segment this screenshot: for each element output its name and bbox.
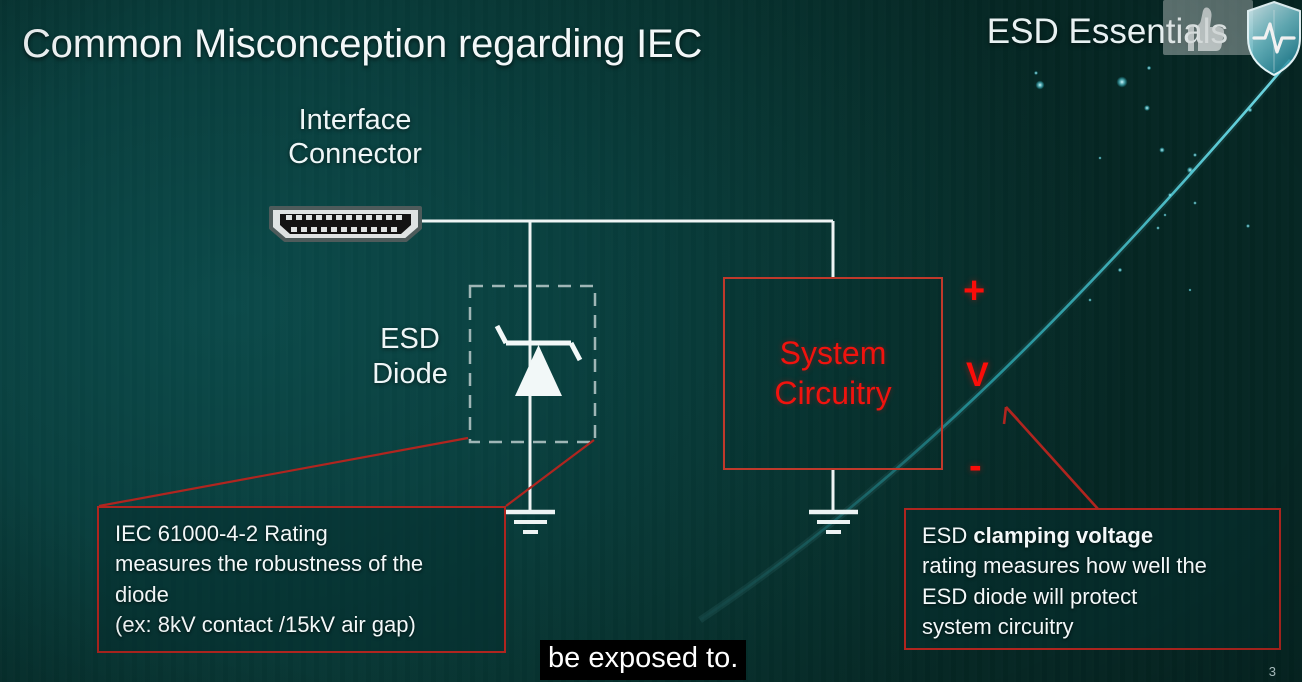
page-title: Common Misconception regarding IEC — [22, 22, 702, 67]
system-circuitry-line1: System — [780, 334, 887, 373]
voltage-minus-marker: - — [969, 447, 982, 485]
page-number: 3 — [1269, 664, 1276, 679]
esd-diode-label: ESD Diode — [340, 322, 480, 393]
esd-label-line2: Diode — [340, 357, 480, 392]
voltage-plus-marker: + — [963, 272, 985, 310]
callout-right-line4: system circuitry — [922, 612, 1265, 642]
thumbs-up-icon[interactable] — [1178, 3, 1230, 55]
hdmi-connector-icon — [268, 204, 423, 244]
callout-right-line1: ESD clamping voltage — [922, 521, 1265, 551]
callout-iec-rating: IEC 61000-4-2 Rating measures the robust… — [97, 506, 506, 653]
callout-clamping-voltage: ESD clamping voltage rating measures how… — [904, 508, 1281, 650]
slide-canvas: Common Misconception regarding IEC ESD E… — [0, 0, 1302, 682]
connector-label: Interface Connector — [255, 104, 455, 171]
ground-icon-system — [809, 512, 858, 532]
left-callout-leader-lines — [99, 438, 594, 506]
callout-right-line3: ESD diode will protect — [922, 582, 1265, 612]
system-circuitry-box: System Circuitry — [723, 277, 943, 470]
connector-label-line1: Interface — [255, 104, 455, 138]
esd-diode-dashed-box — [470, 286, 595, 442]
system-circuitry-line2: Circuitry — [774, 374, 891, 413]
callout-right-line2: rating measures how well the — [922, 551, 1265, 581]
subtitle-caption: be exposed to. — [540, 640, 746, 680]
callout-right-prefix: ESD — [922, 523, 973, 548]
callout-left-line3: diode — [115, 580, 490, 610]
shield-heartbeat-logo — [1245, 0, 1302, 78]
zener-diode-icon — [497, 326, 580, 396]
esd-label-line1: ESD — [340, 322, 480, 357]
ground-icon-diode — [506, 512, 555, 532]
callout-left-line1: IEC 61000-4-2 Rating — [115, 519, 490, 549]
callout-left-line4: (ex: 8kV contact /15kV air gap) — [115, 610, 490, 640]
connector-label-line2: Connector — [255, 138, 455, 172]
callout-right-bold: clamping voltage — [973, 523, 1153, 548]
voltage-v-marker: V — [966, 358, 989, 392]
right-callout-arrow — [1004, 407, 1098, 509]
callout-left-line2: measures the robustness of the — [115, 549, 490, 579]
